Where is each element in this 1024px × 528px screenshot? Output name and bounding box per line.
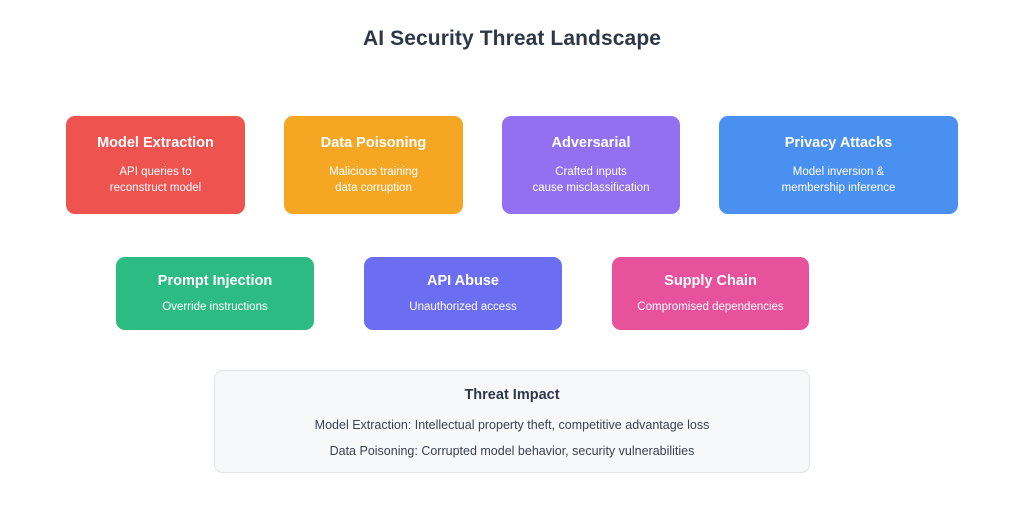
threat-impact-panel: Threat Impact Model Extraction: Intellec…	[214, 370, 810, 473]
threat-card-prompt-injection[interactable]: Prompt InjectionOverride instructions	[116, 257, 314, 330]
threat-card-description: Compromised dependencies	[637, 299, 783, 315]
threat-impact-line: Model Extraction: Intellectual property …	[315, 418, 710, 433]
threat-card-title: Adversarial	[552, 134, 631, 152]
threat-card-title: Data Poisoning	[321, 134, 427, 152]
threat-card-description: Override instructions	[162, 299, 267, 315]
threat-card-description: Model inversion &membership inference	[782, 164, 896, 196]
threat-card-model-extraction[interactable]: Model ExtractionAPI queries toreconstruc…	[66, 116, 245, 214]
threat-card-description: API queries toreconstruct model	[110, 164, 201, 196]
primary-threat-row: Model ExtractionAPI queries toreconstruc…	[66, 116, 958, 214]
threat-card-description: Unauthorized access	[409, 299, 516, 315]
threat-card-privacy-attacks[interactable]: Privacy AttacksModel inversion &membersh…	[719, 116, 958, 214]
threat-card-description: Malicious trainingdata corruption	[329, 164, 418, 196]
secondary-threat-row: Prompt InjectionOverride instructionsAPI…	[116, 257, 809, 330]
threat-card-title: API Abuse	[427, 272, 499, 290]
threat-card-title: Privacy Attacks	[785, 134, 892, 152]
threat-impact-title: Threat Impact	[464, 385, 559, 405]
threat-card-title: Supply Chain	[664, 272, 757, 290]
threat-card-api-abuse[interactable]: API AbuseUnauthorized access	[364, 257, 562, 330]
threat-card-title: Model Extraction	[97, 134, 214, 152]
threat-card-title: Prompt Injection	[158, 272, 272, 290]
threat-card-adversarial[interactable]: AdversarialCrafted inputscause misclassi…	[502, 116, 680, 214]
threat-card-data-poisoning[interactable]: Data PoisoningMalicious trainingdata cor…	[284, 116, 463, 214]
threat-card-description: Crafted inputscause misclassification	[533, 164, 650, 196]
page-title: AI Security Threat Landscape	[0, 24, 1024, 54]
threat-card-supply-chain[interactable]: Supply ChainCompromised dependencies	[612, 257, 809, 330]
threat-landscape-page: AI Security Threat Landscape Model Extra…	[0, 0, 1024, 528]
threat-impact-line: Data Poisoning: Corrupted model behavior…	[330, 444, 695, 459]
threat-impact-lines: Model Extraction: Intellectual property …	[315, 418, 710, 459]
